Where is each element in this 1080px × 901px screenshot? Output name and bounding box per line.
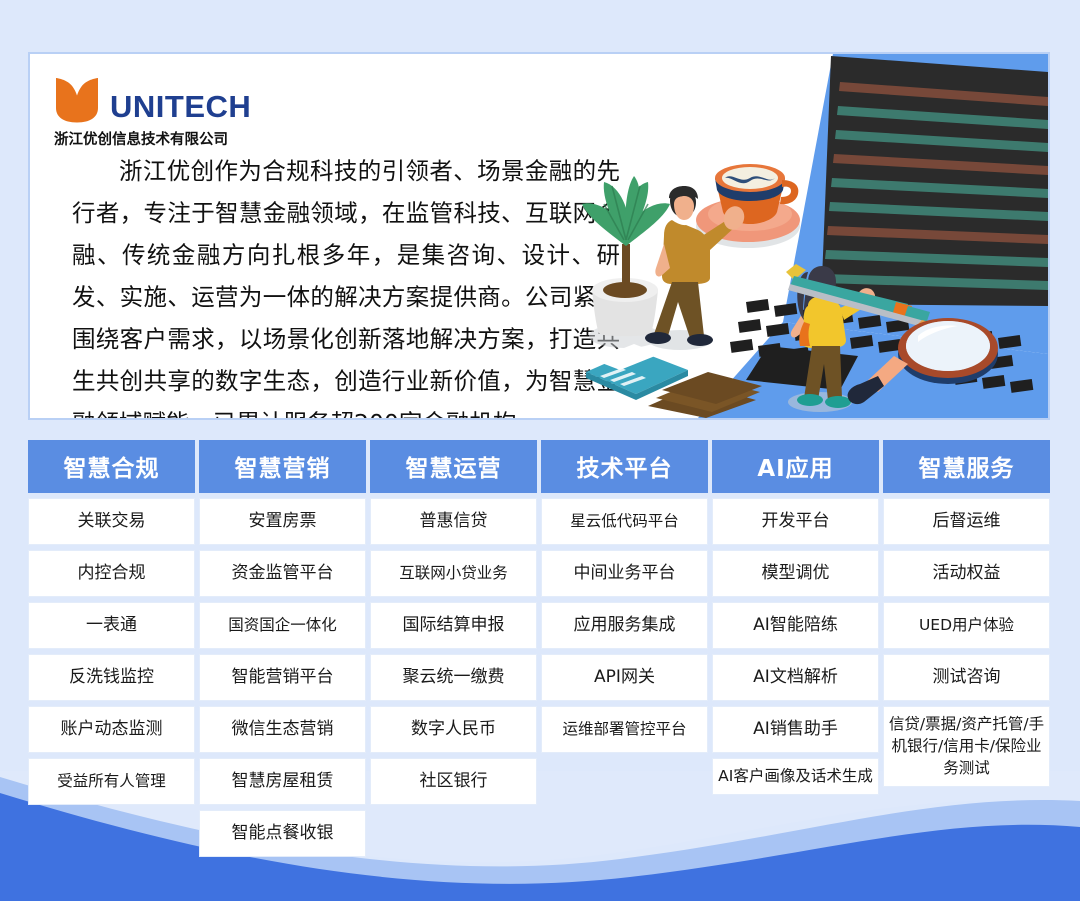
table-cell[interactable]: 关联交易 [28, 498, 195, 545]
capability-table: 智慧合规关联交易内控合规一表通反洗钱监控账户动态监测受益所有人管理智慧营销安置房… [28, 440, 1050, 857]
table-cell[interactable]: 后督运维 [883, 498, 1050, 545]
table-cell[interactable]: AI客户画像及话术生成 [712, 758, 879, 795]
table-cell[interactable]: 数字人民币 [370, 706, 537, 753]
brand-block: UNITECH 浙江优创信息技术有限公司 [54, 76, 354, 149]
table-cell[interactable]: 测试咨询 [883, 654, 1050, 701]
table-column-6: 智慧服务后督运维活动权益UED用户体验测试咨询信贷/票据/资产托管/手机银行/信… [883, 440, 1050, 857]
table-cell[interactable]: API网关 [541, 654, 708, 701]
table-cell[interactable]: 互联网小贷业务 [370, 550, 537, 597]
table-cell[interactable]: 活动权益 [883, 550, 1050, 597]
table-cell[interactable]: AI智能陪练 [712, 602, 879, 649]
table-cell[interactable]: 内控合规 [28, 550, 195, 597]
brand-subtitle: 浙江优创信息技术有限公司 [54, 128, 354, 149]
column-header[interactable]: 智慧合规 [28, 440, 195, 493]
table-cell[interactable]: 反洗钱监控 [28, 654, 195, 701]
table-cell[interactable]: 安置房票 [199, 498, 366, 545]
table-cell[interactable]: 应用服务集成 [541, 602, 708, 649]
table-cell[interactable]: 中间业务平台 [541, 550, 708, 597]
table-cell[interactable]: AI文档解析 [712, 654, 879, 701]
table-cell[interactable]: 智慧房屋租赁 [199, 758, 366, 805]
table-cell[interactable]: 聚云统一缴费 [370, 654, 537, 701]
table-cell[interactable]: 受益所有人管理 [28, 758, 195, 805]
table-cell[interactable]: 一表通 [28, 602, 195, 649]
brand-row: UNITECH [54, 76, 354, 124]
table-cell[interactable]: 运维部署管控平台 [541, 706, 708, 753]
company-intro-paragraph: 浙江优创作为合规科技的引领者、场景金融的先行者，专注于智慧金融领域，在监管科技、… [72, 150, 620, 420]
table-cell[interactable]: UED用户体验 [883, 602, 1050, 649]
table-column-4: 技术平台星云低代码平台中间业务平台应用服务集成API网关运维部署管控平台 [541, 440, 708, 857]
table-cell[interactable]: 国资国企一体化 [199, 602, 366, 649]
table-column-1: 智慧合规关联交易内控合规一表通反洗钱监控账户动态监测受益所有人管理 [28, 440, 195, 857]
table-cell[interactable]: 信贷/票据/资产托管/手机银行/信用卡/保险业务测试 [883, 706, 1050, 787]
column-header[interactable]: AI应用 [712, 440, 879, 493]
table-cell[interactable]: 普惠信贷 [370, 498, 537, 545]
table-column-2: 智慧营销安置房票资金监管平台国资国企一体化智能营销平台微信生态营销智慧房屋租赁智… [199, 440, 366, 857]
potted-plant-icon [582, 176, 670, 348]
table-cell[interactable]: 开发平台 [712, 498, 879, 545]
column-header[interactable]: 智慧服务 [883, 440, 1050, 493]
table-cell[interactable]: 微信生态营销 [199, 706, 366, 753]
table-cell[interactable]: 账户动态监测 [28, 706, 195, 753]
brand-wordmark: UNITECH [110, 91, 251, 124]
column-header[interactable]: 智慧营销 [199, 440, 366, 493]
table-column-5: AI应用开发平台模型调优AI智能陪练AI文档解析AI销售助手AI客户画像及话术生… [712, 440, 879, 857]
table-cell[interactable]: 资金监管平台 [199, 550, 366, 597]
table-cell[interactable]: 模型调优 [712, 550, 879, 597]
table-cell[interactable]: 星云低代码平台 [541, 498, 708, 545]
table-cell[interactable]: AI销售助手 [712, 706, 879, 753]
table-cell[interactable]: 智能营销平台 [199, 654, 366, 701]
table-column-3: 智慧运营普惠信贷互联网小贷业务国际结算申报聚云统一缴费数字人民币社区银行 [370, 440, 537, 857]
column-header[interactable]: 技术平台 [541, 440, 708, 493]
column-header[interactable]: 智慧运营 [370, 440, 537, 493]
tulip-logo-icon [54, 76, 100, 124]
table-cell[interactable]: 国际结算申报 [370, 602, 537, 649]
desk-workspace-illustration [578, 54, 1048, 418]
company-intro-card: UNITECH 浙江优创信息技术有限公司 浙江优创作为合规科技的引领者、场景金融… [28, 52, 1050, 420]
table-cell[interactable]: 智能点餐收银 [199, 810, 366, 857]
table-cell[interactable]: 社区银行 [370, 758, 537, 805]
